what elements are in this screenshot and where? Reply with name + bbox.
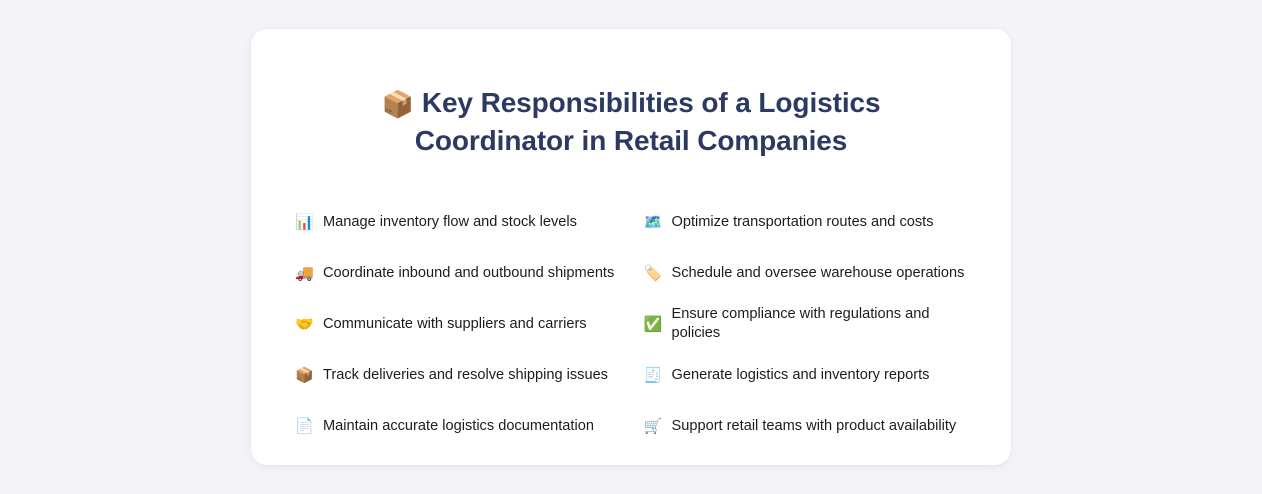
map-icon: 🗺️ (644, 215, 662, 230)
list-item-label: Manage inventory flow and stock levels (323, 213, 577, 232)
list-item[interactable]: 📦 Track deliveries and resolve shipping … (295, 350, 619, 401)
list-item[interactable]: 📄 Maintain accurate logistics documentat… (295, 401, 619, 452)
list-item[interactable]: 🚚 Coordinate inbound and outbound shipme… (295, 248, 619, 299)
shopping-cart-icon: 🛒 (644, 419, 662, 434)
list-item[interactable]: 🏷️ Schedule and oversee warehouse operat… (644, 248, 968, 299)
page-title: 📦Key Responsibilities of a Logistics Coo… (295, 84, 967, 159)
check-mark-icon: ✅ (644, 317, 662, 332)
list-item-label: Track deliveries and resolve shipping is… (323, 366, 608, 385)
receipt-report-icon: 🧾 (644, 368, 662, 383)
list-item-label: Generate logistics and inventory reports (672, 366, 930, 385)
list-item[interactable]: 🛒 Support retail teams with product avai… (644, 401, 968, 452)
responsibilities-card: 📦Key Responsibilities of a Logistics Coo… (251, 29, 1011, 465)
list-item[interactable]: ✅ Ensure compliance with regulations and… (644, 299, 968, 350)
list-item-label: Communicate with suppliers and carriers (323, 315, 587, 334)
list-item-label: Schedule and oversee warehouse operation… (672, 264, 965, 283)
handshake-icon: 🤝 (295, 317, 313, 332)
bar-chart-icon: 📊 (295, 215, 313, 230)
delivery-truck-icon: 🚚 (295, 266, 313, 281)
page-canvas: 📦Key Responsibilities of a Logistics Coo… (0, 0, 1262, 494)
package-icon: 📦 (295, 368, 313, 383)
page-title-text: Key Responsibilities of a Logistics Coor… (415, 87, 881, 156)
list-item[interactable]: 🗺️ Optimize transportation routes and co… (644, 197, 968, 248)
list-item-label: Ensure compliance with regulations and p… (672, 305, 968, 344)
tag-icon: 🏷️ (644, 266, 662, 281)
list-item-label: Coordinate inbound and outbound shipment… (323, 264, 614, 283)
package-icon: 📦 (382, 89, 414, 119)
responsibilities-grid: 📊 Manage inventory flow and stock levels… (295, 197, 967, 452)
list-item[interactable]: 📊 Manage inventory flow and stock levels (295, 197, 619, 248)
list-item-label: Support retail teams with product availa… (672, 417, 957, 436)
list-item[interactable]: 🤝 Communicate with suppliers and carrier… (295, 299, 619, 350)
list-item[interactable]: 🧾 Generate logistics and inventory repor… (644, 350, 968, 401)
list-item-label: Maintain accurate logistics documentatio… (323, 417, 594, 436)
responsibilities-column-left: 📊 Manage inventory flow and stock levels… (295, 197, 619, 452)
document-icon: 📄 (295, 419, 313, 434)
responsibilities-column-right: 🗺️ Optimize transportation routes and co… (644, 197, 968, 452)
list-item-label: Optimize transportation routes and costs (672, 213, 934, 232)
